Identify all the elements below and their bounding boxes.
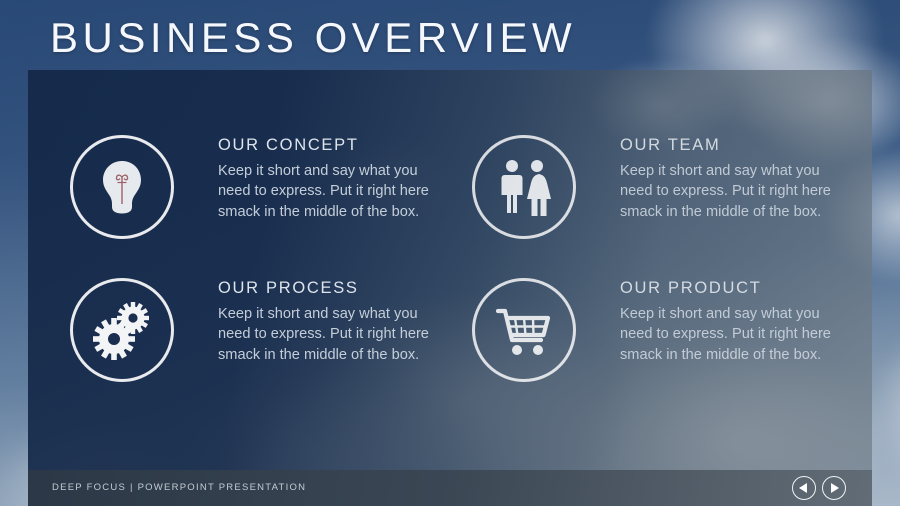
- team-people-icon: [472, 135, 576, 239]
- presentation-slide: BUSINESS OVERVIEW OUR CONCEPT Keep it sh…: [0, 0, 900, 506]
- feature-body: Keep it short and say what you need to e…: [620, 304, 852, 365]
- feature-text-block: OUR PROCESS Keep it short and say what y…: [218, 278, 450, 365]
- feature-heading: OUR CONCEPT: [218, 135, 450, 155]
- gears-icon: [70, 278, 174, 382]
- feature-body: Keep it short and say what you need to e…: [620, 161, 852, 222]
- next-slide-button[interactable]: [822, 476, 846, 500]
- feature-text-block: OUR TEAM Keep it short and say what you …: [620, 135, 852, 222]
- slide-navigation: [792, 476, 846, 500]
- feature-text-block: OUR PRODUCT Keep it short and say what y…: [620, 278, 852, 365]
- feature-item-concept[interactable]: OUR CONCEPT Keep it short and say what y…: [42, 127, 452, 270]
- page-title: BUSINESS OVERVIEW: [50, 12, 576, 64]
- previous-slide-button[interactable]: [792, 476, 816, 500]
- lightbulb-icon: [70, 135, 174, 239]
- feature-item-product[interactable]: OUR PRODUCT Keep it short and say what y…: [444, 270, 854, 413]
- feature-item-team[interactable]: OUR TEAM Keep it short and say what you …: [444, 127, 854, 270]
- feature-grid: OUR CONCEPT Keep it short and say what y…: [28, 70, 872, 470]
- footer-caption: DEEP FOCUS | POWERPOINT PRESENTATION: [52, 482, 306, 493]
- feature-heading: OUR TEAM: [620, 135, 852, 155]
- feature-heading: OUR PROCESS: [218, 278, 450, 298]
- content-panel: OUR CONCEPT Keep it short and say what y…: [28, 70, 872, 506]
- slide-footer: DEEP FOCUS | POWERPOINT PRESENTATION: [28, 470, 872, 506]
- feature-body: Keep it short and say what you need to e…: [218, 161, 450, 222]
- feature-item-process[interactable]: OUR PROCESS Keep it short and say what y…: [42, 270, 452, 413]
- feature-text-block: OUR CONCEPT Keep it short and say what y…: [218, 135, 450, 222]
- feature-body: Keep it short and say what you need to e…: [218, 304, 450, 365]
- chevron-right-icon: [831, 483, 839, 493]
- feature-heading: OUR PRODUCT: [620, 278, 852, 298]
- chevron-left-icon: [799, 483, 807, 493]
- shopping-cart-icon: [472, 278, 576, 382]
